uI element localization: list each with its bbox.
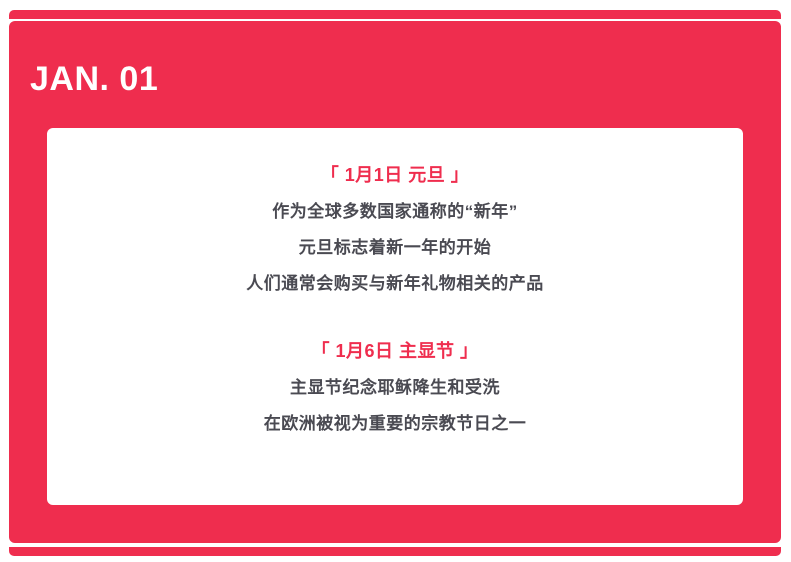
- holiday-section-epiphany: 「 1月6日 主显节 」 主显节纪念耶稣降生和受洗 在欧洲被视为重要的宗教节日之…: [77, 338, 713, 432]
- section-heading: 「 1月1日 元旦 」: [77, 162, 713, 189]
- section-body-line: 主显节纪念耶稣降生和受洗: [77, 379, 713, 396]
- calendar-red-panel: JAN. 01 「 1月1日 元旦 」 作为全球多数国家通称的“新年” 元旦标志…: [9, 21, 781, 543]
- section-heading: 「 1月6日 主显节 」: [77, 338, 713, 365]
- decorative-bottom-strip: [9, 547, 781, 556]
- section-body-line: 作为全球多数国家通称的“新年”: [77, 203, 713, 220]
- holiday-section-new-year: 「 1月1日 元旦 」 作为全球多数国家通称的“新年” 元旦标志着新一年的开始 …: [77, 162, 713, 292]
- page-title: JAN. 01: [30, 62, 158, 96]
- content-card: 「 1月1日 元旦 」 作为全球多数国家通称的“新年” 元旦标志着新一年的开始 …: [47, 128, 743, 505]
- section-body-line: 人们通常会购买与新年礼物相关的产品: [77, 275, 713, 292]
- decorative-top-strip: [9, 10, 781, 19]
- section-body-line: 元旦标志着新一年的开始: [77, 239, 713, 256]
- section-body-line: 在欧洲被视为重要的宗教节日之一: [77, 415, 713, 432]
